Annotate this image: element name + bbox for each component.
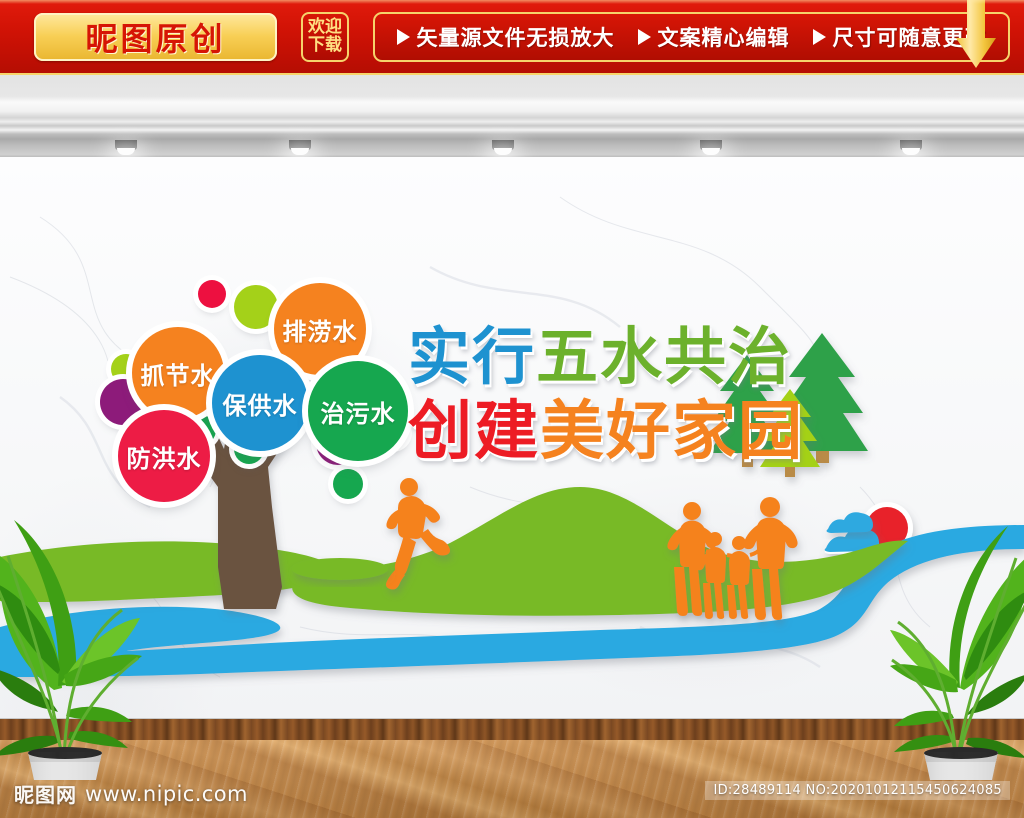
watermark-brand-cn: 昵图网 [14,779,77,808]
bubble-zhuajieshui[interactable]: 抓节水 [132,327,224,419]
grass-patch-icon [292,558,388,580]
promo-feature-2: 文案精心编辑 [638,22,790,52]
watermark-brand: 昵图网 www.nipic.com [14,779,248,808]
promo-feature-1-label: 矢量源文件无损放大 [417,22,615,52]
headline-line-2: 创建 美好家园 [408,397,804,469]
ceiling-spotlight-icon [900,140,922,150]
promo-feature-1: 矢量源文件无损放大 [397,22,615,52]
watermark-id: ID:28489114 NO:20201012115450624085 [705,781,1010,800]
baseboard [0,718,1024,740]
welcome-download-line2: 下载 [308,37,342,55]
accent-dot [333,469,363,499]
bubble-paolaoshui-label: 排涝水 [283,312,358,347]
welcome-download-line1: 欢迎 [308,19,342,37]
bubble-zhuajieshui-label: 抓节水 [141,356,216,391]
nipic-original-logo-text: 昵图原创 [85,14,225,60]
family-group-icon [667,497,797,620]
plant-right-pot [924,747,998,780]
nipic-original-logo: 昵图原创 [34,13,277,61]
headline-line2-part2: 美好家园 [540,397,804,469]
headline-line1-part2: 五水共治 [536,322,792,391]
promo-feature-list: 矢量源文件无损放大 文案精心编辑 尺寸可随意更改 [373,12,1010,62]
bubble-baogongshui[interactable]: 保供水 [212,355,308,451]
promo-banner: 昵图原创 欢迎 下载 矢量源文件无损放大 文案精心编辑 尺寸可随意更改 [0,0,1024,75]
ceiling-spotlight-icon [289,140,311,150]
headline-line1-part1: 实行 [408,322,536,391]
ceiling-spotlight-icon [700,140,722,150]
bubble-zhiwushui[interactable]: 治污水 [308,361,408,461]
headline-line2-part1: 创建 [408,397,540,469]
accent-dot [234,285,278,329]
headline-block: 实行 五水共治 创建 美好家园 [408,322,804,469]
plant-left [0,460,142,780]
welcome-download-badge[interactable]: 欢迎 下载 [301,12,349,62]
plant-left-leaves [0,520,142,756]
wall-artwork: 排涝水 抓节水 保供水 治污水 防洪水 实行 五水共治 创建 美好家园 [0,157,1024,718]
screenshot-stage: 昵图原创 欢迎 下载 矢量源文件无损放大 文案精心编辑 尺寸可随意更改 [0,0,1024,818]
bubble-zhiwushui-label: 治污水 [321,394,396,429]
ceiling-spotlight-icon [115,140,137,150]
plant-left-pot [28,747,102,780]
bubble-baogongshui-label: 保供水 [223,386,298,421]
cloud-icon [827,512,873,533]
triangle-right-icon [638,29,651,45]
triangle-right-icon [813,29,826,45]
triangle-right-icon [397,29,410,45]
download-arrow-icon[interactable] [954,0,998,72]
headline-line-1: 实行 五水共治 [408,322,804,391]
watermark-brand-url: www.nipic.com [85,782,248,806]
plant-right [890,470,1024,780]
ceiling-spotlight-icon [492,140,514,150]
accent-dot [198,280,226,308]
promo-feature-2-label: 文案精心编辑 [658,22,790,52]
plant-right-leaves [890,526,1024,758]
